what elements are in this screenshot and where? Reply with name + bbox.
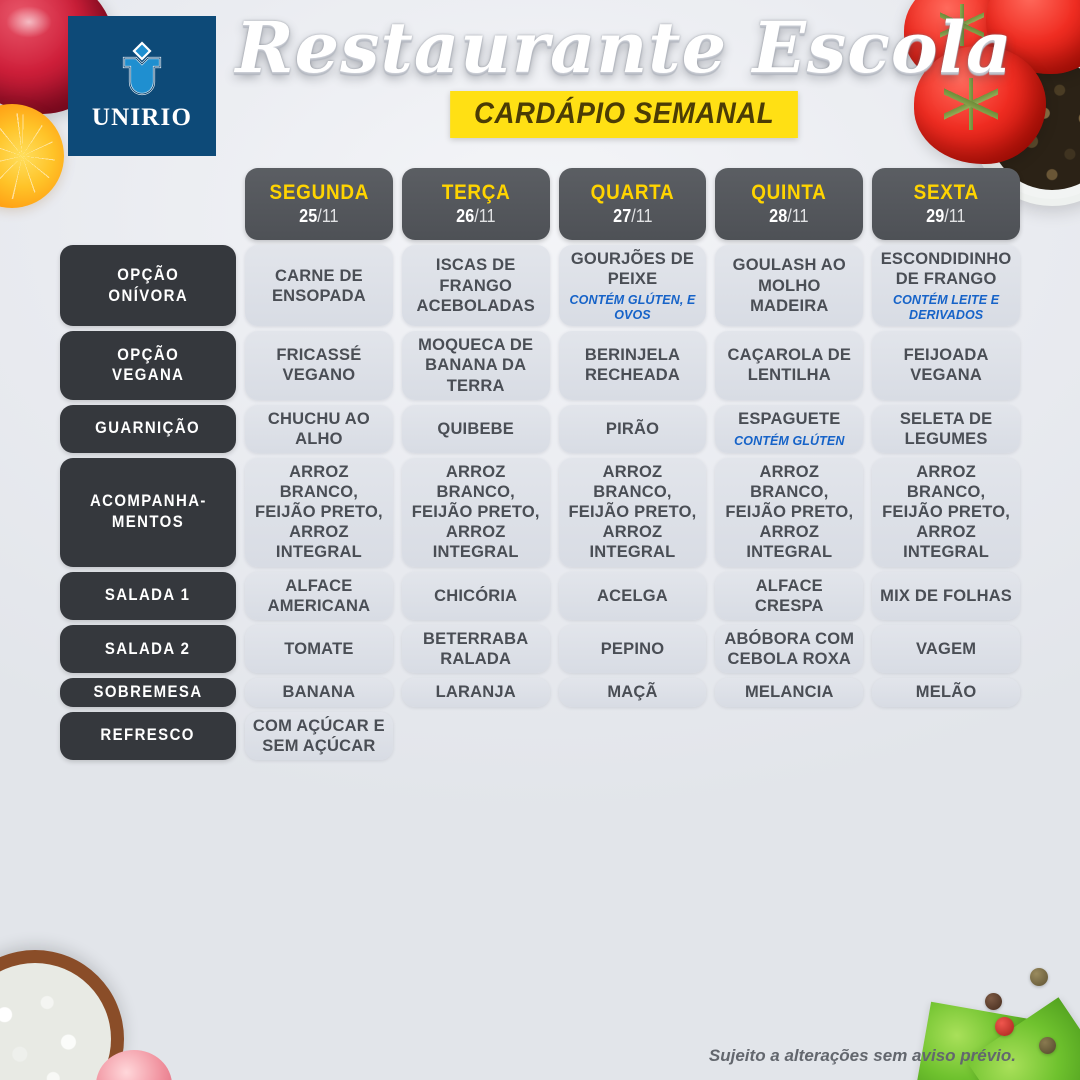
menu-cell-onivora-quinta: GOULASH AO MOLHO MADEIRA [715, 245, 863, 326]
menu-cell-guarnicao-sexta: SELETA DE LEGUMES [872, 405, 1020, 453]
menu-cell-vegana-quarta: BERINJELA RECHEADA [559, 331, 707, 399]
dish-name: FRICASSÉ VEGANO [251, 345, 387, 385]
basil-leaf-1 [914, 1002, 1033, 1080]
menu-cell-salada2-quinta: ABÓBORA COM CEBOLA ROXA [715, 625, 863, 673]
menu-cell-acompanhamentos-sexta: ARROZ BRANCO, FEIJÃO PRETO, ARROZ INTEGR… [872, 458, 1020, 567]
day-name: SEXTA [913, 181, 978, 205]
day-date: 27/11 [613, 206, 652, 227]
menu-cell-acompanhamentos-terca: ARROZ BRANCO, FEIJÃO PRETO, ARROZ INTEGR… [402, 458, 550, 567]
dish-name: SELETA DE LEGUMES [878, 409, 1014, 449]
dish-name: ARROZ BRANCO, FEIJÃO PRETO, ARROZ INTEGR… [251, 462, 387, 563]
dish-name: ARROZ BRANCO, FEIJÃO PRETO, ARROZ INTEGR… [721, 462, 857, 563]
subtitle-wrap: CARDÁPIO SEMANAL [228, 91, 1020, 138]
dish-name: GOURJÕES DE PEIXE [565, 249, 701, 289]
menu-cell-acompanhamentos-segunda: ARROZ BRANCO, FEIJÃO PRETO, ARROZ INTEGR… [245, 458, 393, 567]
peppercorn-3 [995, 1017, 1014, 1036]
dish-name: VAGEM [916, 639, 976, 659]
grid-corner-spacer [60, 168, 236, 240]
dish-name: BETERRABA RALADA [408, 629, 544, 669]
dish-name: ESPAGUETE [738, 409, 840, 429]
menu-cell-onivora-sexta: ESCONDIDINHO DE FRANGO CONTÉM LEITE E DE… [872, 245, 1020, 326]
dish-name: ALFACE AMERICANA [251, 576, 387, 616]
dish-name: PEPINO [601, 639, 665, 659]
menu-cell-guarnicao-segunda: CHUCHU AO ALHO [245, 405, 393, 453]
menu-cell-refresco-all-week: COM AÇÚCAR E SEM AÇÚCAR [245, 712, 393, 760]
dish-name: BANANA [283, 682, 356, 702]
dish-name: QUIBEBE [437, 419, 514, 439]
menu-cell-sobremesa-sexta: MELÃO [872, 678, 1020, 707]
basil-leaf-2 [966, 997, 1080, 1080]
peppercorn-4 [1039, 1037, 1056, 1054]
unirio-shield-icon [110, 40, 174, 102]
peppercorn-1 [1030, 968, 1048, 986]
unirio-logo: UNIRIO [68, 16, 216, 156]
dish-name: ACELGA [597, 586, 668, 606]
dish-name: CHICÓRIA [434, 586, 517, 606]
day-header-quinta: QUINTA 28/11 [715, 168, 863, 240]
menu-cell-salada2-segunda: TOMATE [245, 625, 393, 673]
day-header-sexta: SEXTA 29/11 [872, 168, 1020, 240]
rice-bowl-photo [0, 950, 124, 1080]
day-name: QUINTA [752, 181, 827, 205]
menu-poster: UNIRIO Restaurante Escola CARDÁPIO SEMAN… [0, 0, 1080, 1080]
row-label-refresco: REFRESCO [60, 712, 236, 760]
poster-header: UNIRIO Restaurante Escola CARDÁPIO SEMAN… [0, 0, 1080, 168]
subtitle-banner: CARDÁPIO SEMANAL [450, 91, 798, 138]
menu-cell-sobremesa-quinta: MELANCIA [715, 678, 863, 707]
menu-cell-salada1-quinta: ALFACE CRESPA [715, 572, 863, 620]
day-name: QUARTA [591, 181, 675, 205]
dish-name: FEIJOADA VEGANA [878, 345, 1014, 385]
dish-name: ABÓBORA COM CEBOLA ROXA [721, 629, 857, 669]
menu-cell-vegana-sexta: FEIJOADA VEGANA [872, 331, 1020, 399]
menu-cell-vegana-terca: MOQUECA DE BANANA DA TERRA [402, 331, 550, 399]
dish-name: LARANJA [436, 682, 516, 702]
dish-name: ISCAS DE FRANGO ACEBOLADAS [408, 255, 544, 315]
dish-name: ESCONDIDINHO DE FRANGO [878, 249, 1014, 289]
menu-cell-guarnicao-quinta: ESPAGUETE CONTÉM GLÚTEN [715, 405, 863, 453]
allergen-note: CONTÉM LEITE E DERIVADOS [878, 293, 1014, 322]
menu-cell-salada1-segunda: ALFACE AMERICANA [245, 572, 393, 620]
menu-cell-salada2-quarta: PEPINO [559, 625, 707, 673]
dish-name: TOMATE [284, 639, 353, 659]
day-date: 29/11 [926, 206, 965, 227]
menu-cell-onivora-quarta: GOURJÕES DE PEIXE CONTÉM GLÚTEN, E OVOS [559, 245, 707, 326]
dish-name: PIRÃO [606, 419, 659, 439]
dish-name: CHUCHU AO ALHO [251, 409, 387, 449]
menu-cell-acompanhamentos-quinta: ARROZ BRANCO, FEIJÃO PRETO, ARROZ INTEGR… [715, 458, 863, 567]
allergen-note: CONTÉM GLÚTEN, E OVOS [565, 293, 701, 322]
dish-name: MELANCIA [745, 682, 834, 702]
day-header-segunda: SEGUNDA 25/11 [245, 168, 393, 240]
row-label-salada-1: SALADA 1 [60, 572, 236, 620]
menu-grid: SEGUNDA 25/11 TERÇA 26/11 QUARTA 27/11 Q… [60, 168, 1020, 760]
menu-cell-sobremesa-segunda: BANANA [245, 678, 393, 707]
dish-name: MELÃO [916, 682, 977, 702]
menu-cell-sobremesa-quarta: MAÇÃ [559, 678, 707, 707]
day-name: SEGUNDA [269, 181, 369, 205]
peppercorn-2 [985, 993, 1002, 1010]
row-label-guarnicao: GUARNIÇÃO [60, 405, 236, 453]
dish-name: ARROZ BRANCO, FEIJÃO PRETO, ARROZ INTEGR… [408, 462, 544, 563]
menu-cell-vegana-segunda: FRICASSÉ VEGANO [245, 331, 393, 399]
row-label-salada-2: SALADA 2 [60, 625, 236, 673]
menu-cell-vegana-quinta: CAÇAROLA DE LENTILHA [715, 331, 863, 399]
menu-cell-salada1-sexta: MIX DE FOLHAS [872, 572, 1020, 620]
dish-name: MIX DE FOLHAS [880, 586, 1012, 606]
menu-cell-guarnicao-terca: QUIBEBE [402, 405, 550, 453]
menu-cell-salada1-terca: CHICÓRIA [402, 572, 550, 620]
row-label-acompanhamentos: ACOMPANHA-MENTOS [60, 458, 236, 567]
disclaimer-text: Sujeito a alterações sem aviso prévio. [709, 1046, 1016, 1066]
day-date: 26/11 [456, 206, 495, 227]
menu-cell-guarnicao-quarta: PIRÃO [559, 405, 707, 453]
unirio-wordmark: UNIRIO [92, 104, 192, 132]
dish-name: CARNE DE ENSOPADA [251, 266, 387, 306]
menu-cell-salada2-terca: BETERRABA RALADA [402, 625, 550, 673]
day-date: 25/11 [299, 206, 338, 227]
menu-cell-salada1-quarta: ACELGA [559, 572, 707, 620]
row-label-opcao-vegana: OPÇÃOVEGANA [60, 331, 236, 399]
dish-name: MAÇÃ [607, 682, 657, 702]
dish-name: GOULASH AO MOLHO MADEIRA [721, 255, 857, 315]
day-date: 28/11 [770, 206, 809, 227]
radish-photo [96, 1050, 172, 1080]
menu-cell-onivora-terca: ISCAS DE FRANGO ACEBOLADAS [402, 245, 550, 326]
menu-cell-onivora-segunda: CARNE DE ENSOPADA [245, 245, 393, 326]
day-header-terca: TERÇA 26/11 [402, 168, 550, 240]
day-name: TERÇA [441, 181, 510, 205]
dish-name: ARROZ BRANCO, FEIJÃO PRETO, ARROZ INTEGR… [565, 462, 701, 563]
menu-cell-salada2-sexta: VAGEM [872, 625, 1020, 673]
page-title: Restaurante Escola [228, 12, 1020, 85]
row-label-opcao-onivora: OPÇÃOONÍVORA [60, 245, 236, 326]
title-block: Restaurante Escola CARDÁPIO SEMANAL [228, 12, 1020, 138]
menu-cell-acompanhamentos-quarta: ARROZ BRANCO, FEIJÃO PRETO, ARROZ INTEGR… [559, 458, 707, 567]
row-label-sobremesa: SOBREMESA [60, 678, 236, 707]
dish-name: CAÇAROLA DE LENTILHA [721, 345, 857, 385]
day-header-quarta: QUARTA 27/11 [559, 168, 707, 240]
dish-name: BERINJELA RECHEADA [565, 345, 701, 385]
drink-name: COM AÇÚCAR E SEM AÇÚCAR [251, 716, 387, 756]
dish-name: ALFACE CRESPA [721, 576, 857, 616]
dish-name: MOQUECA DE BANANA DA TERRA [408, 335, 544, 395]
menu-cell-sobremesa-terca: LARANJA [402, 678, 550, 707]
allergen-note: CONTÉM GLÚTEN [734, 434, 844, 449]
dish-name: ARROZ BRANCO, FEIJÃO PRETO, ARROZ INTEGR… [878, 462, 1014, 563]
